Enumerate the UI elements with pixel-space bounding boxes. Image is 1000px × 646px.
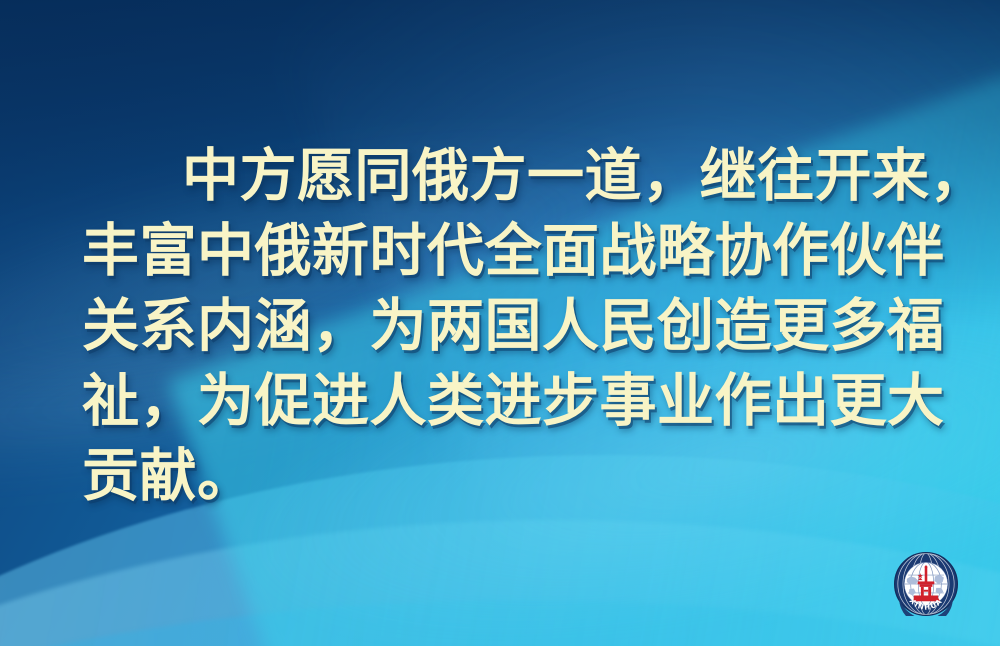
quote-line-1: 中方愿同俄方一道，继往开来， [82, 138, 930, 213]
quote-text-block: 中方愿同俄方一道，继往开来， 丰富中俄新时代全面战略协作伙伴 关系内涵，为两国人… [82, 138, 930, 513]
quote-line-4: 祉，为促进人类进步事业作出更大 [82, 363, 930, 438]
quote-card: 中方愿同俄方一道，继往开来， 丰富中俄新时代全面战略协作伙伴 关系内涵，为两国人… [0, 0, 1000, 646]
quote-line-5: 贡献。 [82, 438, 930, 513]
quote-line-3: 关系内涵，为两国人民创造更多福 [82, 288, 930, 363]
quote-line-2: 丰富中俄新时代全面战略协作伙伴 [82, 213, 930, 288]
background-wave-arc-3 [0, 600, 1000, 646]
xinhua-logo: XINHUA [894, 552, 958, 616]
background-wave-arc-2 [0, 520, 1000, 646]
